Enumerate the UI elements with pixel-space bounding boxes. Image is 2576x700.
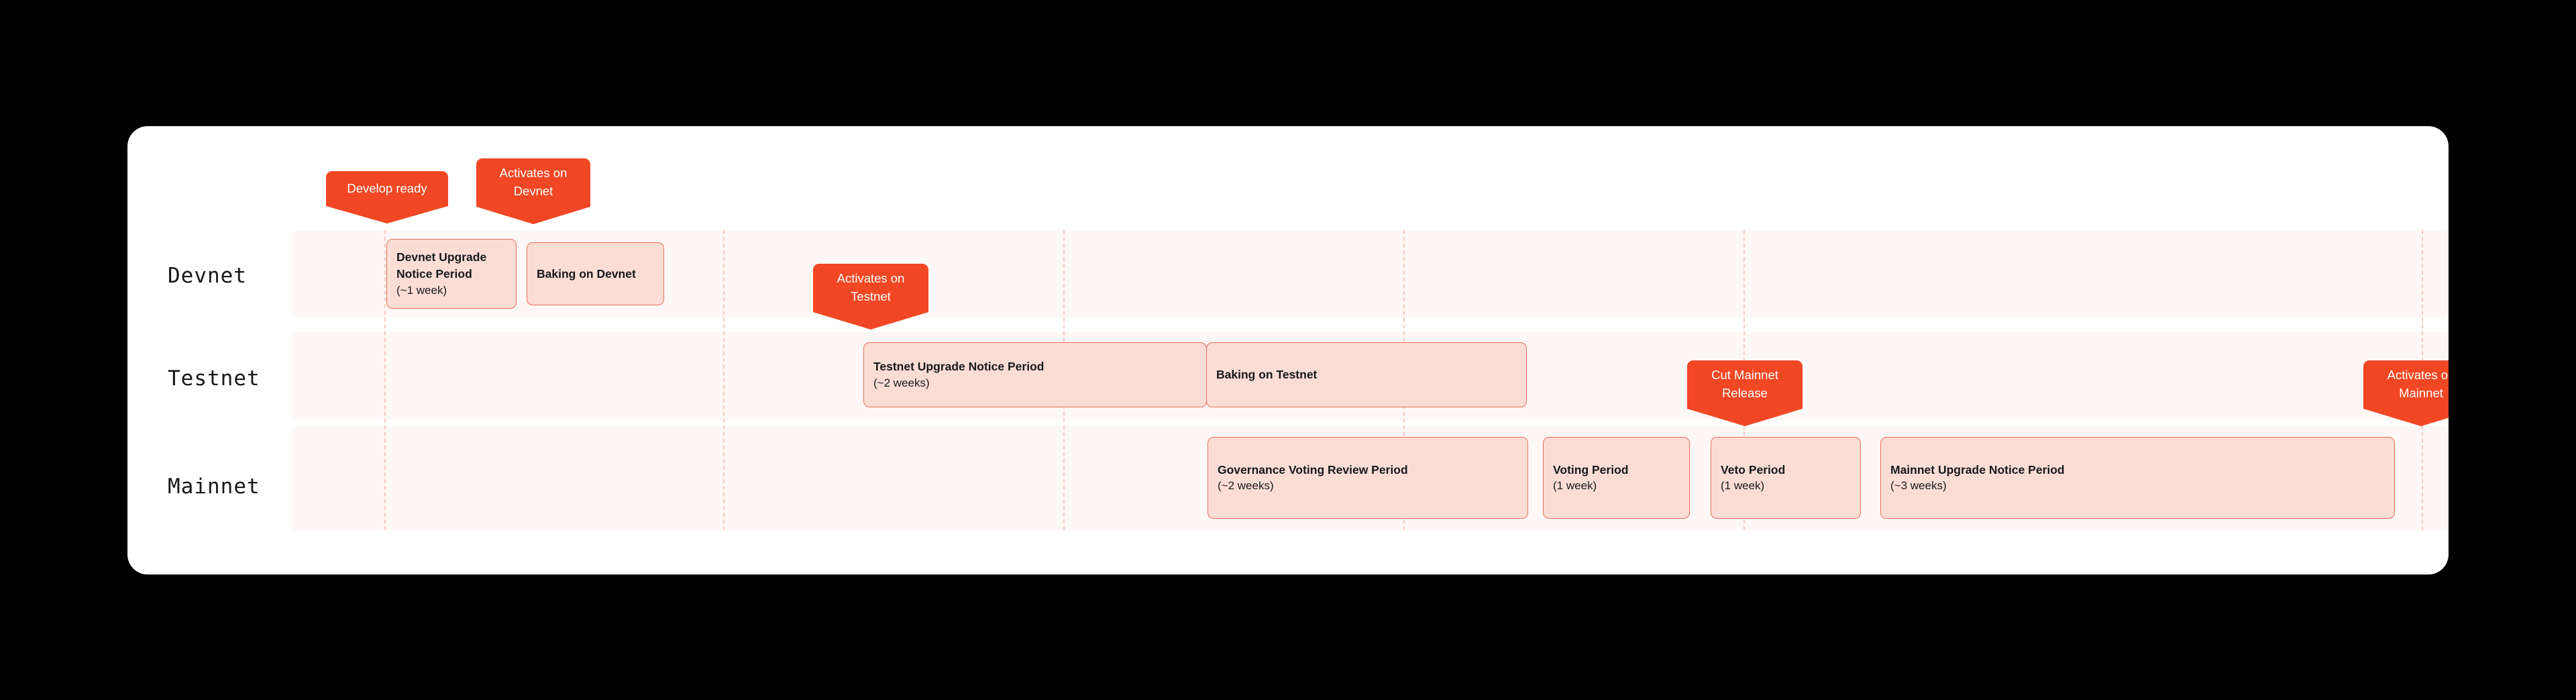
- block-title: Testnet Upgrade Notice Period: [873, 358, 1197, 375]
- gridline-2: [723, 230, 724, 530]
- banner-cut-mainnet-release-line1: Cut Mainnet: [1711, 366, 1778, 385]
- banner-activates-on-devnet-line1: Activates on: [500, 164, 568, 183]
- block-title: Mainnet Upgrade Notice Period: [1890, 462, 2385, 479]
- page-root: Devnet Testnet Mainnet Develop ready Act…: [0, 0, 2576, 700]
- banner-activates-on-mainnet-line2: Mainnet: [2399, 385, 2443, 403]
- banner-develop-ready-label: Develop ready: [347, 180, 427, 198]
- block-title: Baking on Devnet: [537, 266, 654, 283]
- timeline-card: Devnet Testnet Mainnet Develop ready Act…: [127, 126, 2449, 574]
- block-duration: (~3 weeks): [1890, 478, 2385, 494]
- banner-activates-on-devnet-line2: Devnet: [514, 183, 553, 201]
- block-governance-voting-review-period[interactable]: Governance Voting Review Period (~2 week…: [1207, 437, 1528, 519]
- banner-activates-on-devnet[interactable]: Activates on Devnet: [476, 158, 590, 207]
- block-mainnet-upgrade-notice-period[interactable]: Mainnet Upgrade Notice Period (~3 weeks): [1880, 437, 2395, 519]
- row-label-testnet: Testnet: [168, 366, 260, 391]
- block-veto-period[interactable]: Veto Period (1 week): [1711, 437, 1861, 519]
- gridline-1: [384, 230, 386, 530]
- banner-activates-on-testnet[interactable]: Activates on Testnet: [813, 264, 928, 312]
- block-baking-on-devnet[interactable]: Baking on Devnet: [527, 242, 664, 305]
- row-label-mainnet: Mainnet: [168, 474, 260, 499]
- block-duration: (1 week): [1721, 478, 1851, 494]
- block-title: Voting Period: [1553, 462, 1680, 479]
- banner-activates-on-testnet-line1: Activates on: [837, 270, 905, 288]
- banner-activates-on-mainnet-line1: Activates on: [2387, 366, 2449, 385]
- block-title: Devnet Upgrade Notice Period: [396, 249, 506, 283]
- block-duration: (~1 week): [396, 283, 506, 299]
- block-duration: (~2 weeks): [873, 375, 1197, 391]
- block-title: Veto Period: [1721, 462, 1851, 479]
- block-baking-on-testnet[interactable]: Baking on Testnet: [1206, 342, 1527, 407]
- block-voting-period[interactable]: Voting Period (1 week): [1543, 437, 1690, 519]
- banner-cut-mainnet-release[interactable]: Cut Mainnet Release: [1687, 360, 1803, 409]
- block-devnet-upgrade-notice-period[interactable]: Devnet Upgrade Notice Period (~1 week): [386, 239, 517, 309]
- block-duration: (1 week): [1553, 478, 1680, 494]
- banner-develop-ready[interactable]: Develop ready: [326, 171, 448, 206]
- block-title: Baking on Testnet: [1216, 366, 1517, 383]
- block-title: Governance Voting Review Period: [1218, 462, 1518, 479]
- block-duration: (~2 weeks): [1218, 478, 1518, 494]
- block-testnet-upgrade-notice-period[interactable]: Testnet Upgrade Notice Period (~2 weeks): [863, 342, 1207, 407]
- banner-activates-on-mainnet[interactable]: Activates on Mainnet: [2363, 360, 2449, 409]
- row-label-devnet: Devnet: [168, 264, 247, 288]
- banner-activates-on-testnet-line2: Testnet: [851, 288, 891, 306]
- banner-cut-mainnet-release-line2: Release: [1722, 385, 1768, 403]
